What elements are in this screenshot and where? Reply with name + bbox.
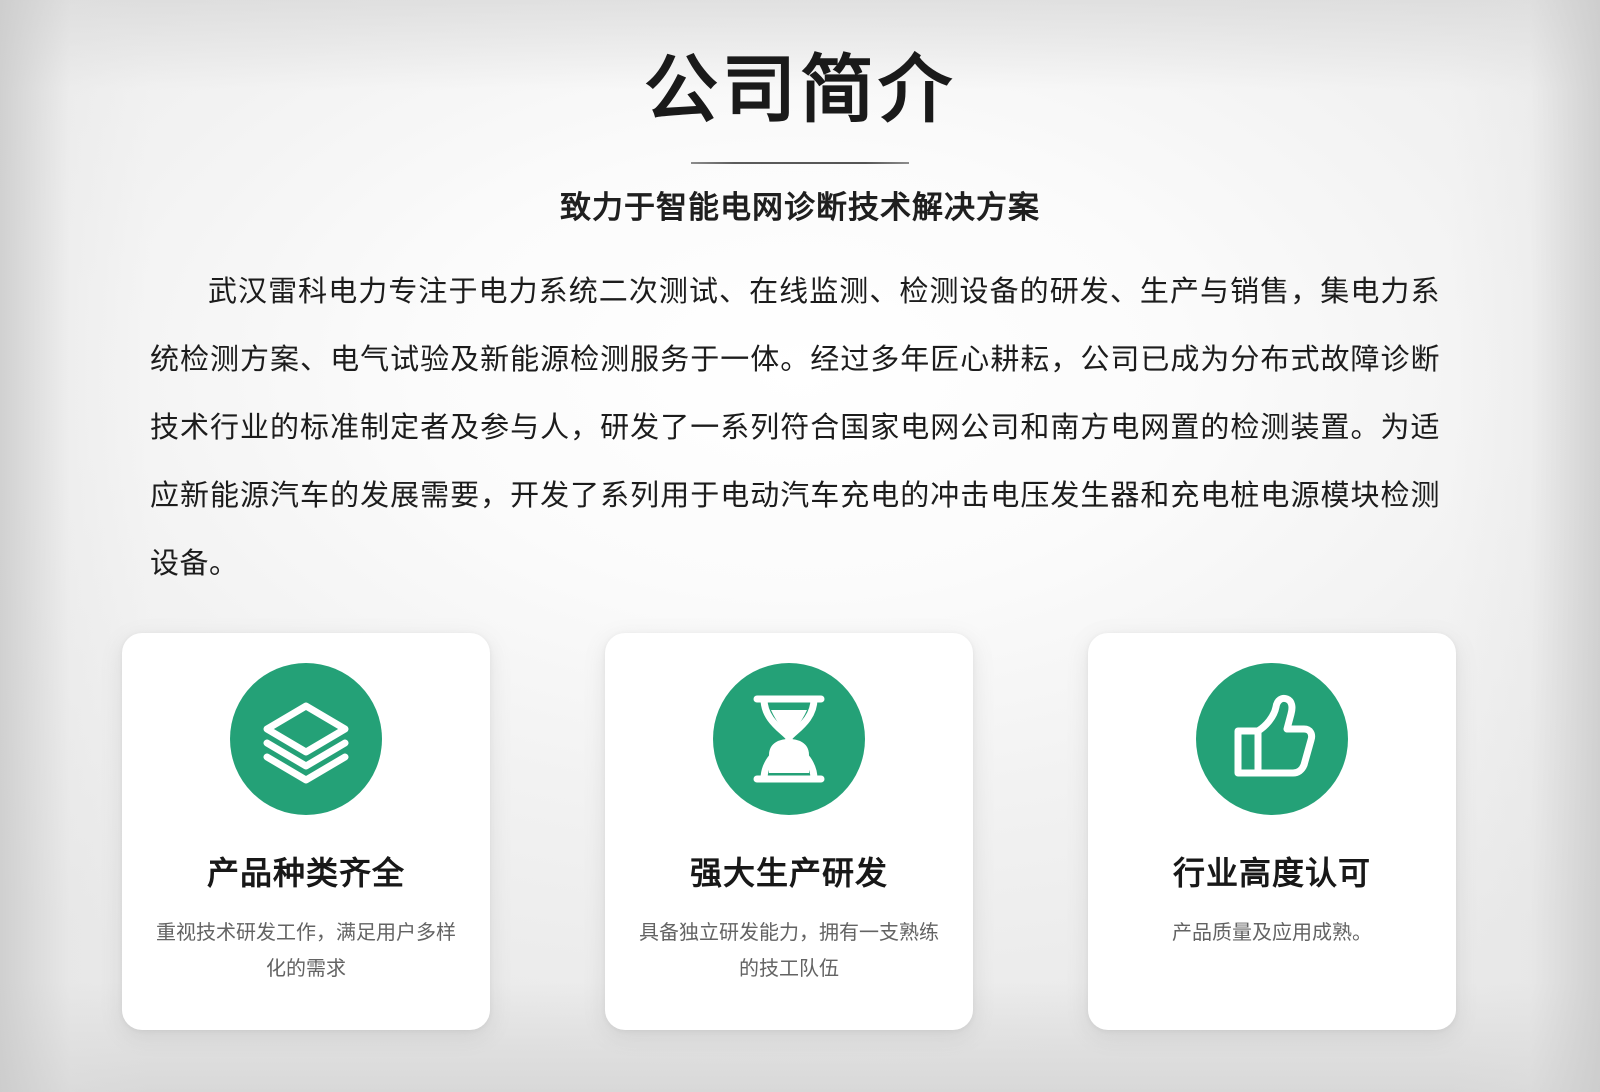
- layers-icon: [230, 663, 382, 815]
- feature-card-list: 产品种类齐全 重视技术研发工作，满足用户多样化的需求 强大生产研发 具备独立: [122, 633, 1456, 1030]
- feature-card-description: 重视技术研发工作，满足用户多样化的需求: [156, 915, 456, 987]
- feature-card[interactable]: 产品种类齐全 重视技术研发工作，满足用户多样化的需求: [122, 633, 490, 1030]
- page-subtitle: 致力于智能电网诊断技术解决方案: [0, 186, 1600, 230]
- hourglass-icon: [713, 663, 865, 815]
- company-intro-paragraph: 武汉雷科电力专注于电力系统二次测试、在线监测、检测设备的研发、生产与销售，集电力…: [150, 258, 1440, 598]
- feature-card-title: 强大生产研发: [690, 853, 888, 893]
- feature-card-description: 具备独立研发能力，拥有一支熟练的技工队伍: [639, 915, 939, 987]
- company-profile-section: 公司简介 致力于智能电网诊断技术解决方案 武汉雷科电力专注于电力系统二次测试、在…: [0, 0, 1600, 1092]
- feature-card-title: 产品种类齐全: [207, 853, 405, 893]
- feature-card-description: 产品质量及应用成熟。: [1122, 915, 1422, 951]
- feature-card-title: 行业高度认可: [1173, 853, 1371, 893]
- page-title: 公司简介: [0, 44, 1600, 136]
- title-divider: [691, 162, 909, 164]
- thumbs-up-icon: [1196, 663, 1348, 815]
- feature-card[interactable]: 行业高度认可 产品质量及应用成熟。: [1088, 633, 1456, 1030]
- section-header: 公司简介 致力于智能电网诊断技术解决方案: [0, 44, 1600, 230]
- feature-card[interactable]: 强大生产研发 具备独立研发能力，拥有一支熟练的技工队伍: [605, 633, 973, 1030]
